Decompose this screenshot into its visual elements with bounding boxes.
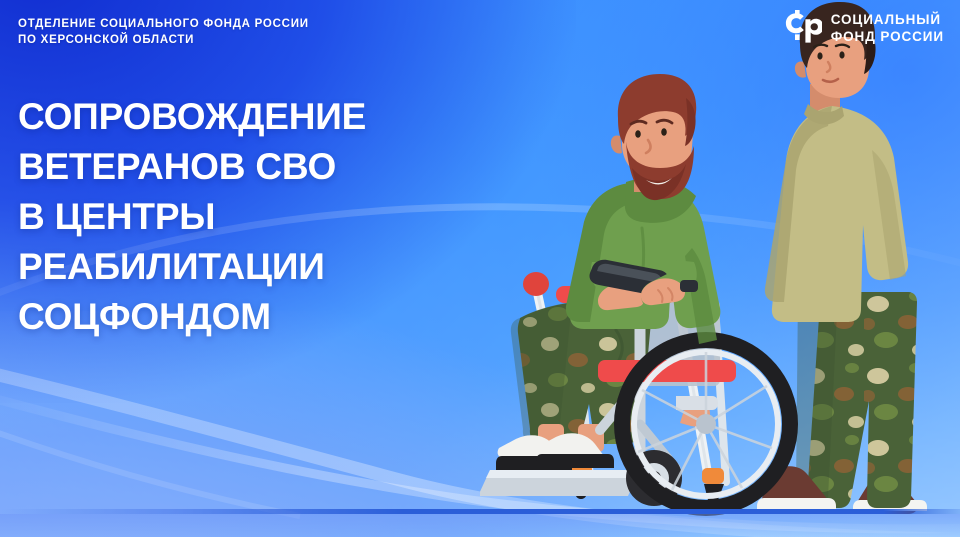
sfr-monogram-icon [780,10,822,46]
seated-man-head [611,74,696,200]
social-fund-banner: ОТДЕЛЕНИЕ СОЦИАЛЬНОГО ФОНДА РОССИИ ПО ХЕ… [0,0,960,537]
headline-line-4: РЕАБИЛИТАЦИИ [18,242,488,292]
organization-name-line-1: ОТДЕЛЕНИЕ СОЦИАЛЬНОГО ФОНДА РОССИИ [18,16,448,32]
headline-line-1: СОПРОВОЖДЕНИЕ [18,92,488,142]
wristwatch [680,280,698,292]
headline: СОПРОВОЖДЕНИЕ ВЕТЕРАНОВ СВО В ЦЕНТРЫ РЕА… [18,92,488,342]
ground-shadow [0,514,960,537]
sfr-logo: СОЦИАЛЬНЫЙ ФОНД РОССИИ [780,10,944,46]
sfr-logo-text-line-2: ФОНД РОССИИ [831,28,944,45]
sfr-logo-text: СОЦИАЛЬНЫЙ ФОНД РОССИИ [831,11,944,45]
sfr-logo-text-line-1: СОЦИАЛЬНЫЙ [831,11,944,28]
crutch-left-cuff [523,272,549,296]
headline-line-5: СОЦФОНДОМ [18,292,488,342]
veterans-rehabilitation-illustration [480,0,960,537]
crutch-right-tip [702,468,724,484]
headline-line-3: В ЦЕНТРЫ [18,192,488,242]
organization-name: ОТДЕЛЕНИЕ СОЦИАЛЬНОГО ФОНДА РОССИИ ПО ХЕ… [18,16,448,49]
headline-line-2: ВЕТЕРАНОВ СВО [18,142,488,192]
organization-name-line-2: ПО ХЕРСОНСКОЙ ОБЛАСТИ [18,32,448,48]
